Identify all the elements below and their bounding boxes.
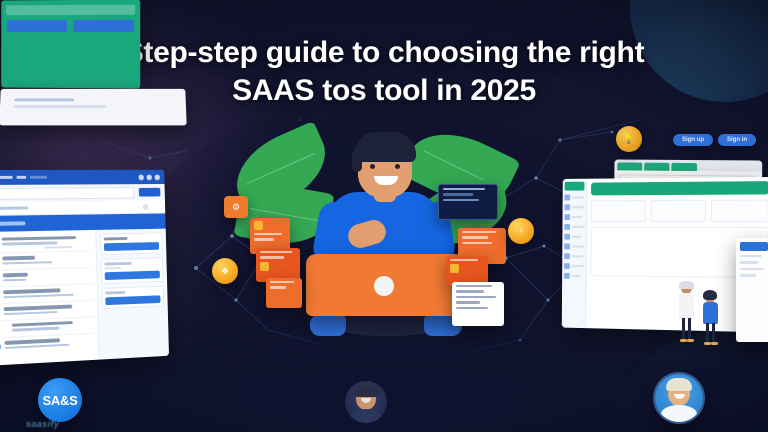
right-floating-card[interactable] bbox=[736, 238, 768, 342]
floating-card-white[interactable] bbox=[452, 282, 504, 326]
left-dash-topbar bbox=[0, 170, 165, 185]
sidebar-item[interactable] bbox=[564, 253, 584, 259]
floating-card-orange[interactable] bbox=[256, 248, 300, 282]
primary-button[interactable] bbox=[139, 188, 161, 197]
section-header-label bbox=[0, 221, 26, 226]
avatar-center[interactable] bbox=[345, 381, 387, 423]
floating-card-button[interactable] bbox=[740, 242, 768, 251]
left-dashboard-mockup[interactable] bbox=[0, 170, 169, 366]
laptop-logo-icon bbox=[374, 276, 394, 296]
right-bottom-bar[interactable] bbox=[0, 89, 187, 126]
chart-icon bbox=[564, 224, 570, 230]
left-dash-nav-item[interactable] bbox=[30, 176, 47, 179]
person-blue-shirt bbox=[700, 292, 720, 346]
character-illustration bbox=[296, 128, 476, 368]
users-icon bbox=[564, 204, 570, 210]
saas-brand-label: SA&S bbox=[43, 393, 78, 408]
aside-card[interactable] bbox=[101, 286, 164, 309]
character-sideburn bbox=[352, 150, 362, 172]
right-dash-stats bbox=[591, 200, 768, 222]
top-right-buttons: Sign up Sign in bbox=[673, 134, 756, 146]
sidebar-item[interactable] bbox=[564, 273, 584, 279]
green-panel-header bbox=[6, 5, 135, 16]
settings-icon bbox=[564, 263, 570, 269]
left-dash-nav-item[interactable] bbox=[0, 176, 13, 179]
character-eye-right bbox=[395, 164, 400, 169]
sidebar-item[interactable] bbox=[564, 224, 584, 230]
report-icon bbox=[564, 273, 570, 279]
green-panel-button[interactable] bbox=[7, 20, 67, 32]
watermark: saasify bbox=[26, 419, 59, 429]
character-eye-left bbox=[370, 164, 375, 169]
character-shoe-left bbox=[310, 314, 346, 336]
row-icon bbox=[0, 342, 1, 351]
signin-button[interactable]: Sign in bbox=[718, 134, 756, 146]
calendar-icon bbox=[564, 253, 570, 259]
stat-card[interactable] bbox=[711, 200, 768, 222]
browser-tab[interactable] bbox=[644, 163, 669, 171]
hero-banner: Step-step guide to choosing the right SA… bbox=[0, 0, 768, 432]
sidebar-item[interactable] bbox=[564, 204, 584, 210]
stat-card[interactable] bbox=[650, 200, 706, 222]
sidebar-item[interactable] bbox=[564, 263, 584, 269]
lightbulb-coin-icon[interactable]: 💡 bbox=[616, 126, 642, 152]
idea-coin-icon[interactable]: ⚡ bbox=[508, 218, 534, 244]
right-green-panel[interactable] bbox=[1, 0, 140, 88]
stat-card[interactable] bbox=[591, 200, 646, 222]
right-dash-sidebar bbox=[562, 179, 588, 328]
dashboard-icon bbox=[565, 195, 571, 201]
list-item[interactable] bbox=[0, 334, 95, 355]
share-network-icon[interactable]: ❖ bbox=[212, 258, 238, 284]
sidebar-item[interactable] bbox=[564, 244, 584, 250]
floating-card-orange[interactable] bbox=[266, 278, 302, 308]
browser-tab[interactable] bbox=[671, 163, 697, 171]
left-dash-nav-item[interactable] bbox=[17, 176, 27, 179]
aside-card[interactable] bbox=[101, 257, 164, 284]
help-icon[interactable] bbox=[146, 174, 152, 180]
sort-icon[interactable] bbox=[143, 204, 149, 210]
browser-tab-strip bbox=[614, 159, 762, 171]
laptop[interactable] bbox=[306, 254, 466, 316]
right-dash-banner bbox=[591, 181, 768, 195]
saas-brand-badge[interactable]: SA&S bbox=[38, 378, 82, 422]
bell-icon[interactable] bbox=[138, 174, 144, 180]
folder-icon bbox=[564, 214, 570, 220]
sidebar-item[interactable] bbox=[564, 234, 584, 240]
left-dash-search-row bbox=[0, 184, 165, 202]
green-panel-button[interactable] bbox=[73, 20, 134, 32]
mail-icon bbox=[564, 244, 570, 250]
character-hair bbox=[354, 132, 416, 162]
settings-gear-icon[interactable]: ⚙ bbox=[224, 196, 248, 218]
filter-label bbox=[0, 206, 28, 209]
person-white-coat bbox=[676, 282, 696, 344]
avatar-right[interactable] bbox=[655, 374, 703, 422]
signup-button[interactable]: Sign up bbox=[673, 134, 713, 146]
floating-card-dark[interactable] bbox=[438, 184, 498, 220]
avatar-icon[interactable] bbox=[154, 174, 159, 180]
phone-icon bbox=[564, 234, 570, 240]
headline-line-1: Step-step guide to choosing the right bbox=[42, 34, 726, 72]
sidebar-item[interactable] bbox=[565, 194, 585, 200]
sidebar-brand bbox=[565, 182, 585, 191]
aside-card[interactable] bbox=[100, 233, 163, 256]
left-dash-list bbox=[0, 230, 99, 366]
browser-tab[interactable] bbox=[617, 162, 642, 170]
left-dash-aside bbox=[95, 229, 169, 361]
search-input[interactable] bbox=[0, 187, 135, 200]
sidebar-item[interactable] bbox=[564, 214, 584, 220]
